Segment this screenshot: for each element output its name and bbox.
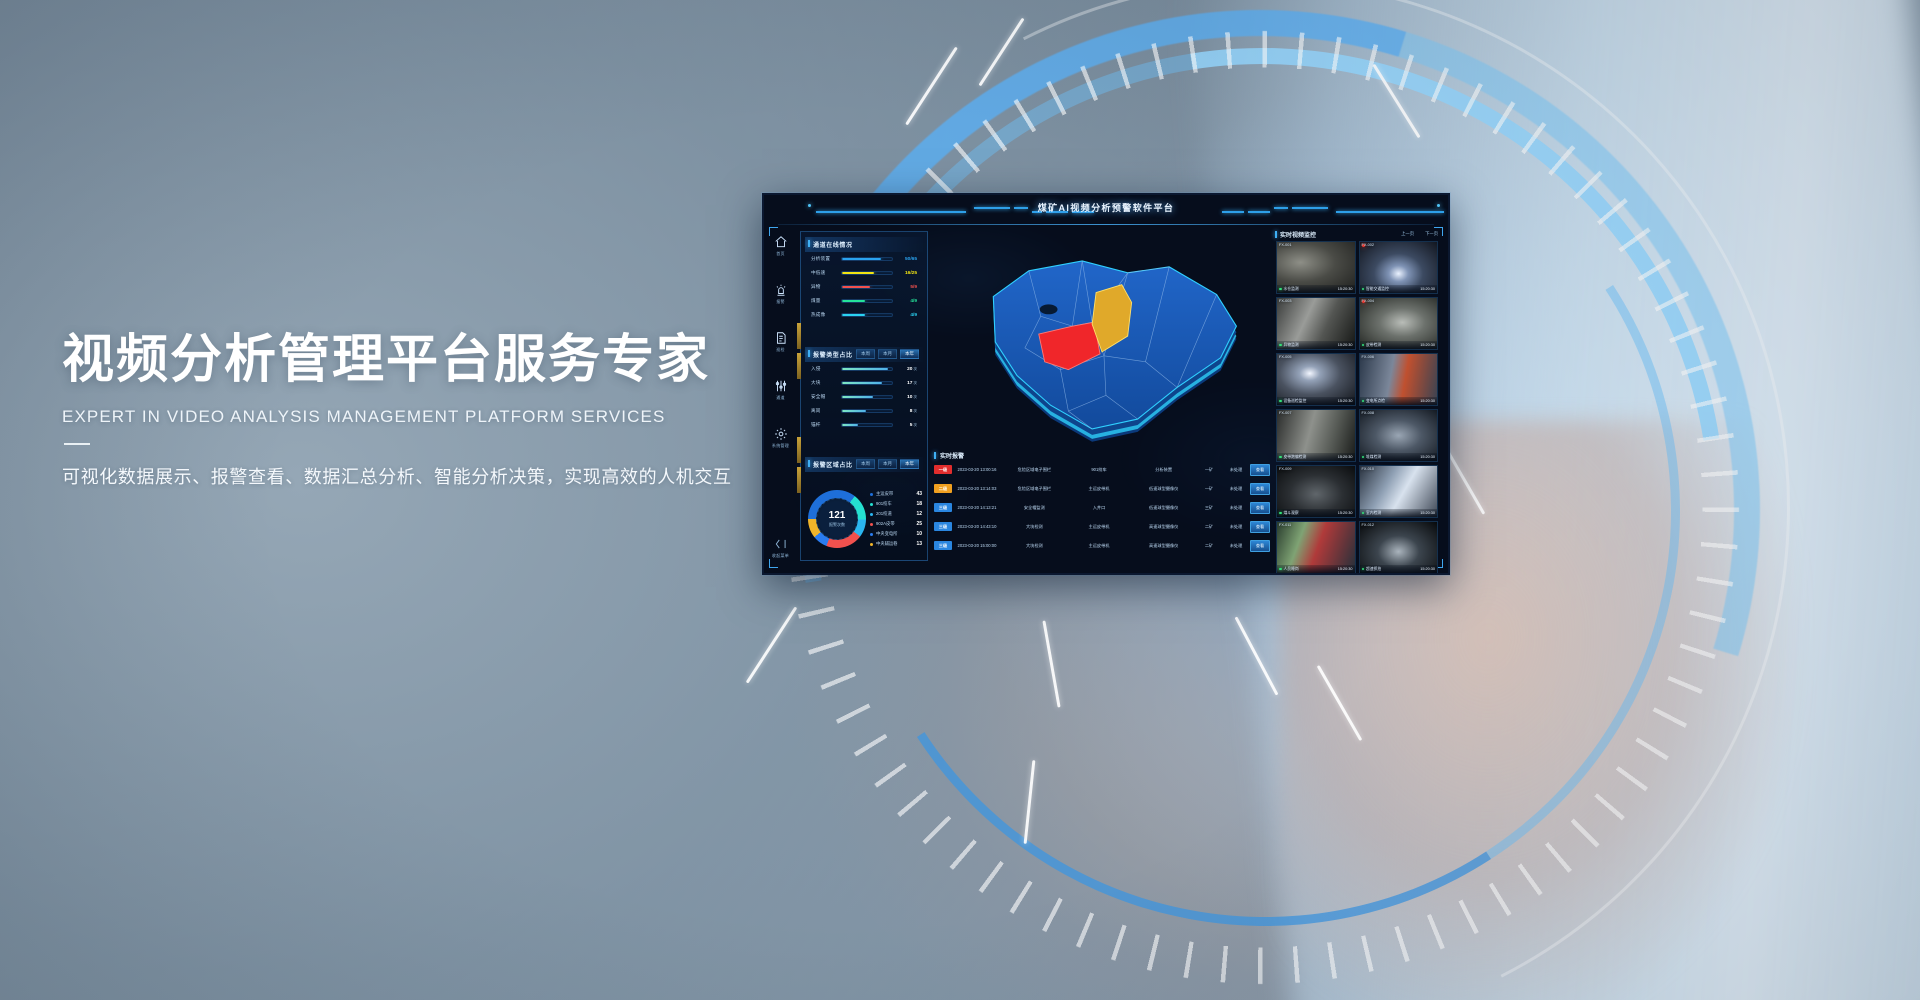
table-row: 三级2023-03-20 15:00:00大块检测主运皮带机高速球型摄像仪二矿未… — [934, 536, 1270, 555]
camera-time: 15:20:30 — [1338, 511, 1353, 515]
map-svg — [934, 231, 1270, 449]
video-footer: 智能交通监控15:20:30 — [1360, 285, 1438, 293]
camera-time: 15:20:30 — [1420, 399, 1435, 403]
camera-id: FX-002 — [1362, 243, 1374, 247]
video-footer: 皮带跑偏检测15:20:30 — [1277, 453, 1355, 461]
camera-id: FX-005 — [1279, 355, 1291, 359]
alarm-type-tab[interactable]: 本周 — [856, 349, 875, 359]
online-indicator — [1362, 400, 1365, 403]
video-footer: 水仓监测15:20:30 — [1277, 285, 1355, 293]
hero-description: 可视化数据展示、报警查看、数据汇总分析、智能分析决策，实现高效的人机交互 — [62, 463, 782, 492]
alarm-type-label: 入侵 — [811, 366, 837, 372]
camera-name: 皮带检测 — [1366, 343, 1420, 348]
alarm-type-value: 20次 — [897, 367, 917, 372]
alarm-area-panel: 报警区域占比 本周本月本年 — [805, 457, 923, 472]
camera-id: FX-012 — [1362, 523, 1374, 527]
alarm-type-bar-track — [841, 423, 893, 427]
alarm-type: 大块检测 — [1002, 524, 1067, 530]
camera-time: 15:20:30 — [1420, 287, 1435, 291]
panel-notch — [797, 353, 801, 379]
legend-item[interactable]: 中央变电所10 — [870, 529, 922, 539]
panel-title: 实时报警 — [934, 451, 1270, 460]
online-indicator — [1362, 568, 1365, 571]
camera-id: FX-004 — [1362, 299, 1374, 303]
alarm-type-tabs[interactable]: 本周本月本年 — [856, 349, 919, 359]
channel-rows: 分析装置50/65中低速16/25异物5/9煤量4/9热成像4/9 — [805, 252, 923, 322]
online-indicator — [1279, 512, 1282, 515]
legend-label: 901绞车 — [876, 501, 916, 507]
channel-online-panel: 通道在线情况 分析装置50/65中低速16/25异物5/9煤量4/9热成像4/9 — [805, 237, 923, 322]
camera-id: FX-003 — [1279, 299, 1291, 303]
panel-title: 实时视频监控 — [1280, 230, 1316, 239]
hero-divider — [64, 443, 90, 445]
alarm-device: 高速球型摄像仪 — [1131, 543, 1196, 549]
camera-id: FX-001 — [1279, 243, 1291, 247]
gear-icon — [774, 427, 788, 441]
map-lake — [1040, 304, 1058, 314]
online-indicator — [1279, 344, 1282, 347]
alarm-icon — [774, 283, 788, 297]
table-row: 三级2023-03-20 14:43:10大块检测主运皮带机高速球型摄像仪二矿未… — [934, 517, 1270, 536]
camera-id: FX-009 — [1279, 467, 1291, 471]
alarm-type-value: 17次 — [897, 381, 917, 386]
view-button[interactable]: 查看 — [1250, 521, 1270, 533]
channel-row: 分析装置50/65 — [805, 252, 923, 266]
alarm-type-label: 锚杆 — [811, 422, 837, 428]
alarm-type: 安全帽监测 — [1002, 505, 1067, 511]
camera-id: FX-007 — [1279, 411, 1291, 415]
dashboard-title: 煤矿AI视频分析预警软件平台 — [764, 201, 1448, 214]
header-underline — [778, 224, 1434, 225]
alarm-type-bar-fill — [842, 368, 888, 370]
camera-name: 人员睡岗 — [1284, 567, 1338, 572]
table-row: 三级2023-03-20 14:13:21安全帽监测入井口低速球型摄像仪三矿未处… — [934, 498, 1270, 517]
view-button[interactable]: 查看 — [1250, 464, 1270, 476]
online-indicator — [1279, 400, 1282, 403]
camera-time: 15:20:30 — [1338, 399, 1353, 403]
dashboard-header: 煤矿AI视频分析预警软件平台 — [764, 195, 1448, 225]
alarm-type-rows: 入侵20次大块17次安全帽10次离岗8次锚杆5次 — [805, 362, 923, 432]
alarm-type-row: 入侵20次 — [805, 362, 923, 376]
video-footer: 设备巡检监控15:20:30 — [1277, 397, 1355, 405]
alarm-type: 危险区域电子围栏 — [1002, 467, 1067, 473]
alarm-time: 2023-03-20 13:00:16 — [952, 467, 1002, 472]
video-tile[interactable]: FX-009煤斗观察15:20:30 — [1276, 465, 1356, 518]
video-panel-header: 实时视频监控 上一页 下一页 — [1274, 229, 1440, 240]
sidebar-item-alarm[interactable]: 报警 — [764, 283, 797, 317]
legend-color-dot — [870, 503, 873, 506]
channel-bar-fill — [842, 300, 865, 302]
alarm-type-bar-fill — [842, 410, 866, 412]
alarm-area-tabs[interactable]: 本周本月本年 — [856, 459, 919, 469]
alarm-device: 低速球型摄像仪 — [1131, 505, 1196, 511]
alarm-area-tab[interactable]: 本月 — [878, 459, 897, 469]
channel-bar-track — [841, 257, 893, 261]
camera-id: FX-011 — [1279, 523, 1291, 527]
video-footer: 变电所点检15:20:30 — [1360, 397, 1438, 405]
donut-center: 121 报警次数 — [816, 498, 858, 540]
alarm-mine: 二矿 — [1196, 524, 1222, 530]
inspection-icon — [774, 331, 788, 345]
donut-caption: 报警次数 — [829, 522, 845, 528]
video-footer: 室内检测15:20:30 — [1360, 509, 1438, 517]
video-tile[interactable]: FX-010室内检测15:20:30 — [1359, 465, 1439, 518]
alarm-type-value: 8次 — [897, 409, 917, 414]
camera-name: 智能交通监控 — [1366, 287, 1420, 292]
video-footer: 堆煤检测15:20:30 — [1360, 453, 1438, 461]
status-badge: 二级 — [934, 484, 952, 493]
video-tile[interactable]: FX-007皮带跑偏检测15:20:30 — [1276, 409, 1356, 462]
alarm-area: 主运皮带机 — [1067, 524, 1132, 530]
video-grid: FX-001水仓监测15:20:30FX-002智能交通监控15:20:30FX… — [1276, 241, 1438, 563]
channel-label: 异物 — [811, 284, 837, 290]
legend-value: 10 — [916, 531, 922, 537]
camera-time: 15:20:30 — [1338, 567, 1353, 571]
alarm-type-row: 大块17次 — [805, 376, 923, 390]
alarm-type-value: 10次 — [897, 395, 917, 400]
channel-row: 煤量4/9 — [805, 294, 923, 308]
camera-name: 皮带跑偏检测 — [1284, 455, 1338, 460]
alarm-type-bar-track — [841, 409, 893, 413]
sidebar-item-channel[interactable]: 通道 — [764, 379, 797, 413]
alarm-area: 901绞车 — [1067, 467, 1132, 473]
video-tile[interactable]: FX-006变电所点检15:20:30 — [1359, 353, 1439, 406]
video-tile[interactable]: FX-003异物监测15:20:30 — [1276, 297, 1356, 350]
legend-color-dot — [870, 533, 873, 536]
channel-value: 5/9 — [897, 285, 917, 290]
alarm-time: 2023-03-20 13:14:03 — [952, 486, 1002, 491]
camera-name: 水仓监测 — [1284, 287, 1338, 292]
alarm-status: 未处理 — [1222, 505, 1250, 511]
alarm-area: 入井口 — [1067, 505, 1132, 511]
donut-total: 121 — [829, 511, 846, 521]
alarm-type-label: 离岗 — [811, 408, 837, 414]
legend-item[interactable]: 中央辅运巷13 — [870, 539, 922, 549]
legend-value: 13 — [916, 541, 922, 547]
video-footer: 皮带检测15:20:30 — [1360, 341, 1438, 349]
camera-name: 变电所点检 — [1366, 399, 1420, 404]
alarm-type-tab[interactable]: 本年 — [900, 349, 919, 359]
alarm-status: 未处理 — [1222, 524, 1250, 530]
alarm-status: 未处理 — [1222, 467, 1250, 473]
channel-row: 中低速16/25 — [805, 266, 923, 280]
donut-legend: 主运皮带43901绞车18201绞道12902A皮带25中央变电所10中央辅运巷… — [870, 489, 922, 549]
alarm-time: 2023-03-20 15:00:00 — [952, 543, 1002, 548]
alarm-status: 未处理 — [1222, 486, 1250, 492]
alarm-type-tab[interactable]: 本月 — [878, 349, 897, 359]
panel-title: 通道在线情况 — [805, 237, 923, 252]
camera-time: 15:20:30 — [1420, 511, 1435, 515]
alarm-mine: 三矿 — [1196, 505, 1222, 511]
alarm-device: 分析装置 — [1131, 467, 1196, 473]
legend-item[interactable]: 902A皮带25 — [870, 519, 922, 529]
camera-time: 15:20:30 — [1420, 455, 1435, 459]
legend-label: 中央辅运巷 — [876, 541, 916, 547]
legend-value: 25 — [916, 521, 922, 527]
channel-value: 4/9 — [897, 313, 917, 318]
camera-name: 室内检测 — [1366, 511, 1420, 516]
alarm-type-row: 锚杆5次 — [805, 418, 923, 432]
alarm-type-label: 安全帽 — [811, 394, 837, 400]
alarm-type: 大块检测 — [1002, 543, 1067, 549]
camera-name: 异物监测 — [1284, 343, 1338, 348]
channel-value: 16/25 — [897, 271, 917, 276]
alarm-table: 一级2023-03-20 13:00:16危险区域电子围栏901绞车分析装置一矿… — [934, 460, 1270, 555]
video-footer: 异物监测15:20:30 — [1277, 341, 1355, 349]
online-indicator — [1279, 288, 1282, 291]
view-button[interactable]: 查看 — [1250, 502, 1270, 514]
sidebar-item-label: 系统管理 — [764, 443, 797, 449]
camera-time: 15:20:30 — [1420, 343, 1435, 347]
alarm-type-bar-fill — [842, 396, 873, 398]
dashboard: 煤矿AI视频分析预警软件平台 首页 报警 — [764, 195, 1448, 573]
status-badge: 三级 — [934, 522, 952, 531]
sidebar-collapse[interactable]: 收起菜单 — [764, 537, 797, 559]
video-tile[interactable]: FX-001水仓监测15:20:30 — [1276, 241, 1356, 294]
online-indicator — [1362, 456, 1365, 459]
alarm-type: 危险区域电子围栏 — [1002, 486, 1067, 492]
alarm-type-bar-track — [841, 367, 893, 371]
channel-row: 异物5/9 — [805, 280, 923, 294]
video-tile[interactable]: FX-005设备巡检监控15:20:30 — [1276, 353, 1356, 406]
sidebar-item-label: 首页 — [764, 251, 797, 257]
camera-name: 超速抓拍 — [1366, 567, 1420, 572]
legend-value: 43 — [916, 491, 922, 497]
alarm-type-label: 大块 — [811, 380, 837, 386]
channel-label: 分析装置 — [811, 256, 837, 262]
camera-time: 15:20:30 — [1338, 287, 1353, 291]
alarm-mine: 二矿 — [1196, 543, 1222, 549]
hero-subtitle: EXPERT IN VIDEO ANALYSIS MANAGEMENT PLAT… — [62, 407, 782, 427]
channel-value: 50/65 — [897, 257, 917, 262]
alarm-type-bar-track — [841, 381, 893, 385]
channel-bar-fill — [842, 258, 881, 260]
legend-item[interactable]: 901绞车18 — [870, 499, 922, 509]
video-tile[interactable]: FX-012超速抓拍15:20:30 — [1359, 521, 1439, 574]
sidebar-item-label: 巡检 — [764, 347, 797, 353]
view-button[interactable]: 查看 — [1250, 483, 1270, 495]
legend-item[interactable]: 主运皮带43 — [870, 489, 922, 499]
channel-bar-fill — [842, 272, 874, 274]
alarm-status: 未处理 — [1222, 543, 1250, 549]
alarm-device: 高速球型摄像仪 — [1131, 524, 1196, 530]
legend-color-dot — [870, 493, 873, 496]
legend-color-dot — [870, 543, 873, 546]
status-badge: 三级 — [934, 503, 952, 512]
legend-color-dot — [870, 523, 873, 526]
alarm-device: 低速球型摄像仪 — [1131, 486, 1196, 492]
alarm-type-row: 安全帽10次 — [805, 390, 923, 404]
alarm-area: 主运皮带机 — [1067, 486, 1132, 492]
camera-time: 15:20:30 — [1420, 567, 1435, 571]
sidebar-item-system[interactable]: 系统管理 — [764, 427, 797, 461]
video-footer: 人员睡岗15:20:30 — [1277, 565, 1355, 573]
legend-label: 主运皮带 — [876, 491, 916, 497]
alarm-type-row: 离岗8次 — [805, 404, 923, 418]
video-footer: 煤斗观察15:20:30 — [1277, 509, 1355, 517]
legend-label: 中央变电所 — [876, 531, 916, 537]
camera-time: 15:20:30 — [1338, 455, 1353, 459]
panel-notch — [797, 467, 801, 493]
sidebar-item-label: 报警 — [764, 299, 797, 305]
sidebar: 首页 报警 巡检 通道 — [764, 221, 797, 573]
camera-id: FX-010 — [1362, 467, 1374, 471]
alarm-mine: 一矿 — [1196, 467, 1222, 473]
realtime-alarm-panel: 实时报警 一级2023-03-20 13:00:16危险区域电子围栏901绞车分… — [934, 451, 1270, 563]
alarm-area: 主运皮带机 — [1067, 543, 1132, 549]
channel-bar-fill — [842, 314, 865, 316]
alarm-type-bar-fill — [842, 382, 882, 384]
online-indicator — [1362, 512, 1365, 515]
channel-bar-track — [841, 285, 893, 289]
channel-bar-track — [841, 313, 893, 317]
video-footer: 超速抓拍15:20:30 — [1360, 565, 1438, 573]
collapse-icon — [774, 537, 788, 551]
alarm-area-tab[interactable]: 本周 — [856, 459, 875, 469]
alarm-type-bar-fill — [842, 424, 858, 426]
page-title: 视频分析管理平台服务专家 — [62, 330, 782, 391]
panel-notch — [797, 437, 801, 463]
channel-label: 中低速 — [811, 270, 837, 276]
alarm-area-tab[interactable]: 本年 — [900, 459, 919, 469]
alarm-time: 2023-03-20 14:43:10 — [952, 524, 1002, 529]
sidebar-item-label: 通道 — [764, 395, 797, 401]
legend-value: 12 — [916, 511, 922, 517]
table-row: 二级2023-03-20 13:14:03危险区域电子围栏主运皮带机低速球型摄像… — [934, 479, 1270, 498]
prev-page-button[interactable]: 上一页 — [1401, 231, 1414, 237]
camera-id: FX-006 — [1362, 355, 1374, 359]
camera-time: 15:20:30 — [1338, 343, 1353, 347]
view-button[interactable]: 查看 — [1250, 540, 1270, 552]
monitor-screen: 煤矿AI视频分析预警软件平台 首页 报警 — [762, 193, 1450, 575]
next-page-button[interactable]: 下一页 — [1425, 231, 1438, 237]
alarm-area-donut-chart: 121 报警次数 主运皮带43901绞车18201绞道12902A皮带25中央变… — [804, 487, 924, 553]
camera-id: FX-008 — [1362, 411, 1374, 415]
sidebar-item-home[interactable]: 首页 — [764, 235, 797, 269]
video-tile[interactable]: FX-008堆煤检测15:20:30 — [1359, 409, 1439, 462]
alarm-type-bar-track — [841, 395, 893, 399]
camera-name: 堆煤检测 — [1366, 455, 1420, 460]
channel-label: 热成像 — [811, 312, 837, 318]
alarm-type-panel: 报警类型占比 本周本月本年 入侵20次大块17次安全帽10次离岗8次锚杆5次 — [805, 347, 923, 432]
channel-value: 4/9 — [897, 299, 917, 304]
online-indicator — [1362, 344, 1365, 347]
online-indicator — [1362, 288, 1365, 291]
alarm-time: 2023-03-20 14:13:21 — [952, 505, 1002, 510]
status-badge: 一级 — [934, 465, 952, 474]
video-monitor-panel: 实时视频监控 上一页 下一页 FX-001水仓监测15:20:30FX-002智… — [1274, 229, 1440, 563]
sidebar-collapse-label: 收起菜单 — [764, 553, 797, 559]
sidebar-item-inspection[interactable]: 巡检 — [764, 331, 797, 365]
legend-value: 18 — [916, 501, 922, 507]
left-column: 通道在线情况 分析装置50/65中低速16/25异物5/9煤量4/9热成像4/9… — [800, 231, 928, 561]
camera-name: 煤斗观察 — [1284, 511, 1338, 516]
video-tile[interactable]: FX-002智能交通监控15:20:30 — [1359, 241, 1439, 294]
table-row: 一级2023-03-20 13:00:16危险区域电子围栏901绞车分析装置一矿… — [934, 460, 1270, 479]
camera-name: 设备巡检监控 — [1284, 399, 1338, 404]
legend-label: 902A皮带 — [876, 521, 916, 527]
status-badge: 三级 — [934, 541, 952, 550]
home-icon — [774, 235, 788, 249]
legend-color-dot — [870, 513, 873, 516]
video-tile[interactable]: FX-011人员睡岗15:20:30 — [1276, 521, 1356, 574]
video-tile[interactable]: FX-004皮带检测15:20:30 — [1359, 297, 1439, 350]
map-base — [993, 261, 1236, 429]
alarm-mine: 一矿 — [1196, 486, 1222, 492]
channel-bar-fill — [842, 286, 870, 288]
region-map[interactable] — [934, 231, 1270, 449]
online-indicator — [1279, 456, 1282, 459]
hero-copy: 视频分析管理平台服务专家 EXPERT IN VIDEO ANALYSIS MA… — [62, 330, 782, 492]
channel-row: 热成像4/9 — [805, 308, 923, 322]
alarm-type-value: 5次 — [897, 423, 917, 428]
legend-label: 201绞道 — [876, 511, 916, 517]
channel-label: 煤量 — [811, 298, 837, 304]
channel-icon — [774, 379, 788, 393]
legend-item[interactable]: 201绞道12 — [870, 509, 922, 519]
channel-bar-track — [841, 271, 893, 275]
channel-bar-track — [841, 299, 893, 303]
panel-notch — [797, 323, 801, 349]
online-indicator — [1279, 568, 1282, 571]
